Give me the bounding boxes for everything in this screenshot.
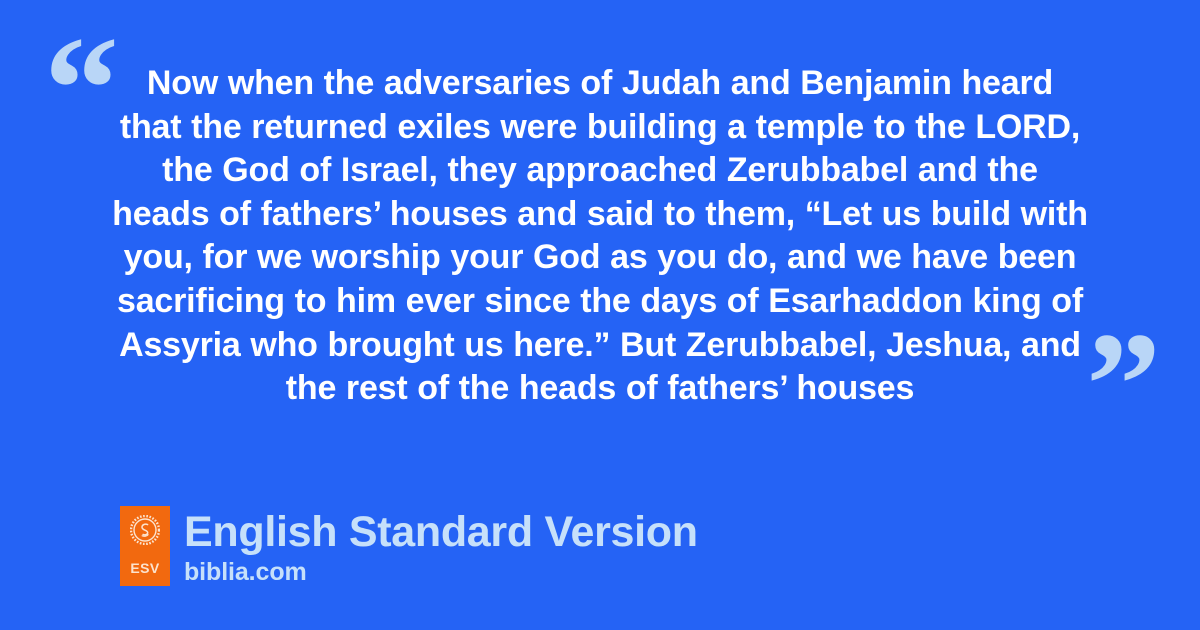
verse-image-card: “ Now when the adversaries of Judah and … — [0, 0, 1200, 630]
closing-quotation-mark-icon: ” — [1086, 310, 1161, 460]
esv-logo: ESV — [120, 506, 170, 586]
quote-line: Assyria who brought us here.” But Zerubb… — [108, 324, 1092, 368]
quote-line: that the returned exiles were building a… — [108, 106, 1092, 150]
scripture-quote-text: Now when the adversaries of Judah and Be… — [108, 62, 1092, 411]
brand-website-url[interactable]: biblia.com — [184, 558, 698, 586]
quote-line: Now when the adversaries of Judah and Be… — [108, 62, 1092, 106]
esv-seal-icon — [130, 515, 160, 545]
brand-text-block: English Standard Version biblia.com — [184, 506, 698, 586]
esv-logo-abbreviation: ESV — [130, 561, 159, 575]
quote-line: sacrificing to him ever since the days o… — [108, 280, 1092, 324]
quote-line: you, for we worship your God as you do, … — [108, 236, 1092, 280]
quote-line: the God of Israel, they approached Zerub… — [108, 149, 1092, 193]
brand-footer: ESV English Standard Version biblia.com — [120, 506, 698, 586]
quote-line: heads of fathers’ houses and said to the… — [108, 193, 1092, 237]
quote-line: the rest of the heads of fathers’ houses — [108, 367, 1092, 411]
bible-version-title: English Standard Version — [184, 507, 698, 557]
